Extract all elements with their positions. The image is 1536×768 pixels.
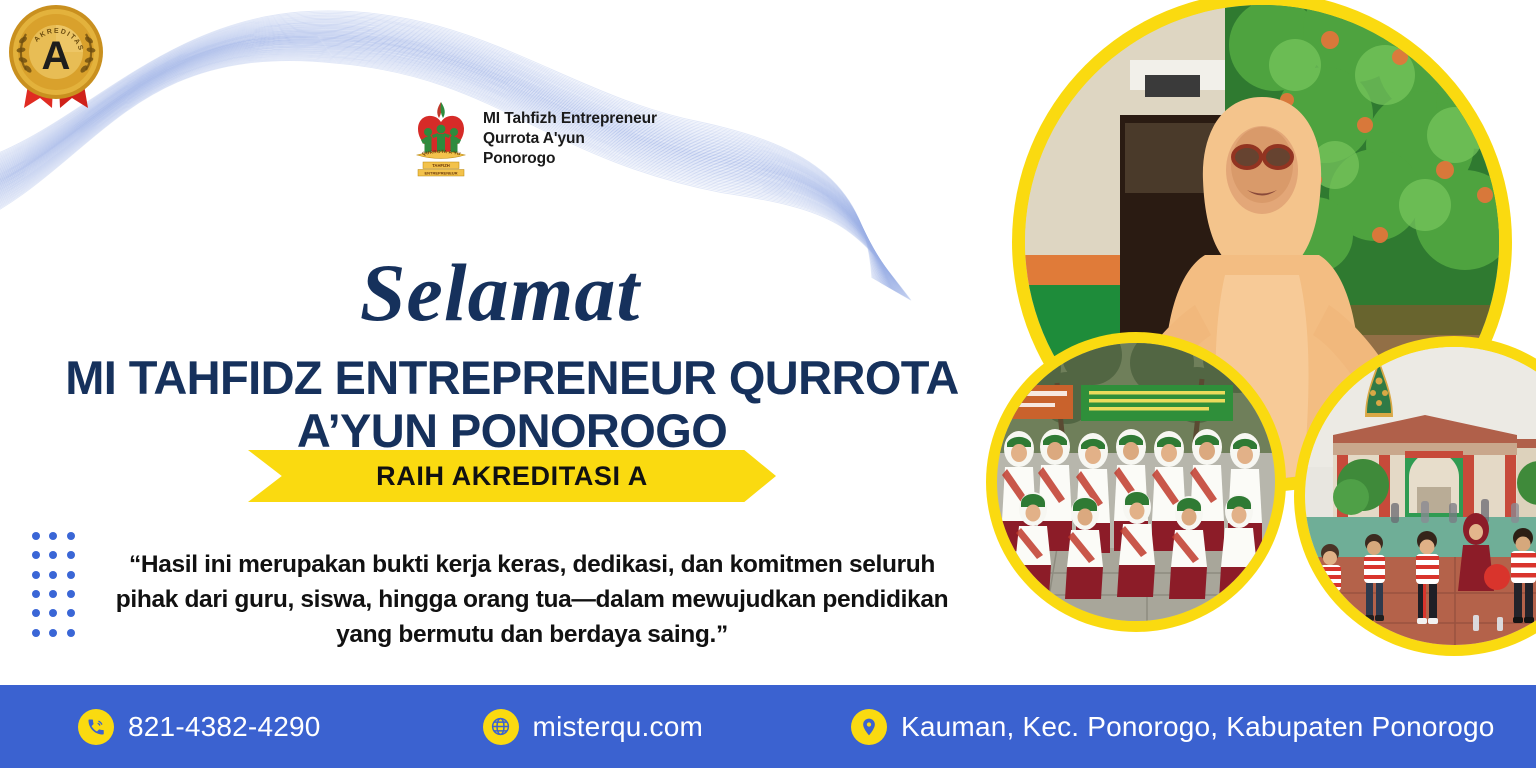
contact-website[interactable]: misterqu.com — [483, 709, 703, 745]
brand-wordmark: MI Tahfizh Entrepreneur Qurrota A'yun Po… — [483, 109, 657, 169]
phone-number: 821-4382-4290 — [128, 711, 321, 743]
address-text: Kauman, Kec. Ponorogo, Kabupaten Ponorog… — [901, 711, 1495, 743]
accreditation-medal-icon: AKREDITASI A — [2, 0, 110, 112]
website-url: misterqu.com — [533, 711, 703, 743]
school-crest-logo: QURROTA A'YUN TAHFIZH ENTREPRENEUR — [408, 100, 474, 178]
ribbon-label: RAIH AKREDITASI A — [376, 461, 648, 492]
crest-mid-label: TAHFIZH — [432, 163, 450, 168]
promotional-banner: AKREDITASI A QUR — [0, 0, 1536, 768]
photo-marching-band-group — [986, 332, 1286, 632]
contact-address[interactable]: Kauman, Kec. Ponorogo, Kabupaten Ponorog… — [851, 709, 1495, 745]
accreditation-ribbon-banner: RAIH AKREDITASI A — [248, 450, 776, 502]
phone-icon — [78, 709, 114, 745]
testimonial-quote: “Hasil ini merupakan bukti kerja keras, … — [96, 548, 968, 652]
crest-bottom-label: ENTREPRENEUR — [424, 170, 457, 175]
page-title: MI TAHFIDZ ENTREPRENEUR QURROTA A’YUN PO… — [0, 352, 1024, 457]
globe-icon — [483, 709, 519, 745]
badge-grade-letter: A — [42, 34, 71, 78]
contact-phone[interactable]: 821-4382-4290 — [78, 709, 321, 745]
brand-lockup: QURROTA A'YUN TAHFIZH ENTREPRENEUR MI Ta… — [408, 100, 657, 178]
contact-footer-bar: 821-4382-4290 misterqu.com — [0, 685, 1536, 768]
dot-grid-decoration — [32, 532, 84, 648]
congratulations-script-word: Selamat — [0, 252, 1000, 334]
location-pin-icon — [851, 709, 887, 745]
